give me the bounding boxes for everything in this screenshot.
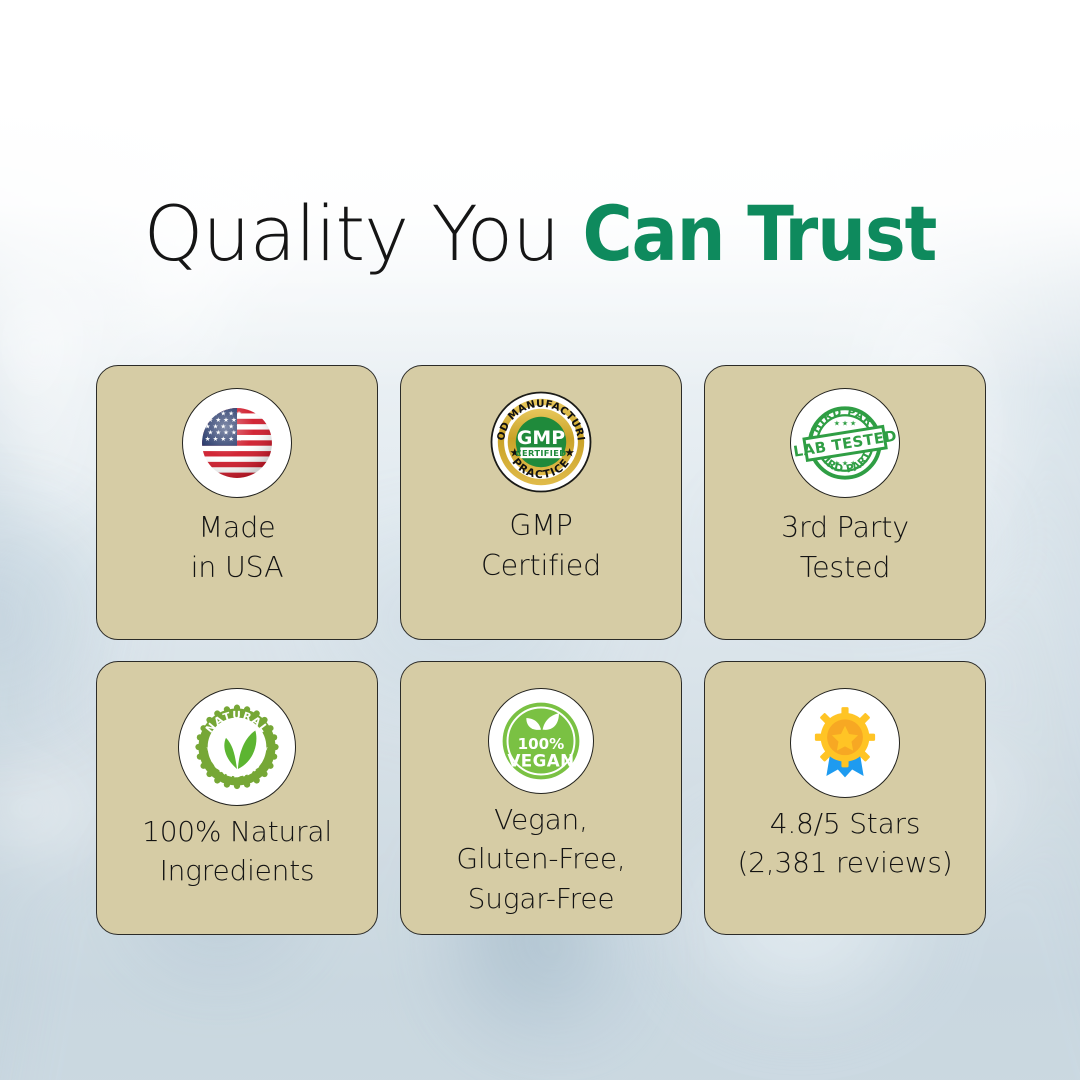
svg-text:★ ★ ★: ★ ★ ★ xyxy=(834,460,856,468)
natural-ingredients-seal-icon: NATURAL INGREDIENTS ★ ★ xyxy=(178,688,296,806)
trust-card-label: 100% Natural Ingredients xyxy=(142,812,332,892)
svg-text:GMP: GMP xyxy=(517,427,565,449)
trust-card-third-party-tested[interactable]: THIRD PARTY THIRD PARTY ★ ★ ★ ★ ★ ★ LAB … xyxy=(704,365,986,640)
trust-card-vegan-gluten-sugar-free[interactable]: 100% VEGAN Vegan, Gluten-Free, Sugar-Fre… xyxy=(400,661,682,936)
trust-card-made-in-usa[interactable]: ★ ★ ★ ★ ★ ★ ★ ★ ★ ★ ★ ★ ★ ★ ★ ★ ★ ★ ★ ★ … xyxy=(96,365,378,640)
svg-text:VEGAN: VEGAN xyxy=(507,750,574,770)
page-title-plain: Quality You xyxy=(144,189,583,278)
trust-card-label: Made in USA xyxy=(191,508,284,589)
vegan-leaf-badge-icon: 100% VEGAN xyxy=(488,688,594,794)
trust-card-rating[interactable]: 4.8/5 Stars (2,381 reviews) xyxy=(704,661,986,936)
svg-text:★: ★ xyxy=(263,745,269,752)
award-rosette-icon xyxy=(790,688,900,798)
third-party-lab-tested-stamp-icon: THIRD PARTY THIRD PARTY ★ ★ ★ ★ ★ ★ LAB … xyxy=(790,388,900,498)
page-title-accent: Can Trust xyxy=(582,189,936,278)
trust-card-label: Vegan, Gluten-Free, Sugar-Free xyxy=(456,800,625,919)
page-title: Quality You Can Trust xyxy=(0,189,1080,278)
trust-card-natural-ingredients[interactable]: NATURAL INGREDIENTS ★ ★ 100% Natural Ing… xyxy=(96,661,378,936)
trust-card-label: 4.8/5 Stars (2,381 reviews) xyxy=(737,804,952,884)
svg-text:★: ★ xyxy=(206,745,212,752)
svg-text:★ ★ ★: ★ ★ ★ xyxy=(834,420,856,428)
svg-text:CERTIFIED: CERTIFIED xyxy=(516,448,567,458)
gmp-certified-seal-icon: GOOD MANUFACTURING PRACTICE ★ ★ GMP CERT… xyxy=(487,388,595,496)
trust-card-label: 3rd Party Tested xyxy=(781,508,909,589)
trust-badge-grid: ★ ★ ★ ★ ★ ★ ★ ★ ★ ★ ★ ★ ★ ★ ★ ★ ★ ★ ★ ★ … xyxy=(96,365,986,935)
trust-card-gmp-certified[interactable]: GOOD MANUFACTURING PRACTICE ★ ★ GMP CERT… xyxy=(400,365,682,640)
usa-flag-icon: ★ ★ ★ ★ ★ ★ ★ ★ ★ ★ ★ ★ ★ ★ ★ ★ ★ ★ ★ ★ … xyxy=(182,388,292,498)
trust-card-label: GMP Certified xyxy=(481,506,601,587)
